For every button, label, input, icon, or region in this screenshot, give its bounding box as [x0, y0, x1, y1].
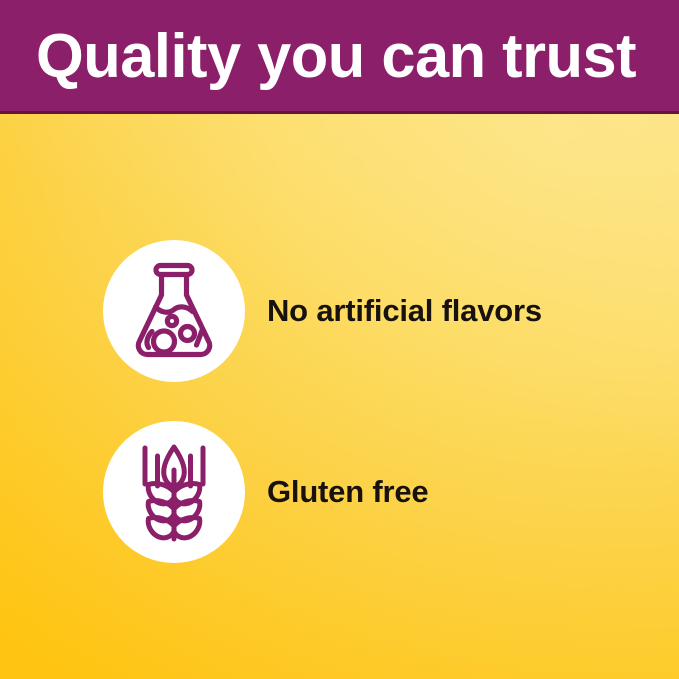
feature-row-no-artificial-flavors: No artificial flavors: [103, 240, 542, 382]
icon-disc: [103, 421, 245, 563]
quality-you-can-trust-infographic: Quality you can trust: [0, 0, 679, 679]
feature-label: No artificial flavors: [267, 293, 542, 329]
icon-disc: [103, 240, 245, 382]
feature-label: Gluten free: [267, 474, 428, 510]
wheat-icon: [131, 440, 217, 544]
flask-icon: [128, 261, 220, 361]
page-title: Quality you can trust: [36, 26, 660, 88]
header-banner-rule: [0, 111, 679, 114]
background-gradient-overlay: [0, 113, 679, 679]
feature-row-gluten-free: Gluten free: [103, 421, 428, 563]
